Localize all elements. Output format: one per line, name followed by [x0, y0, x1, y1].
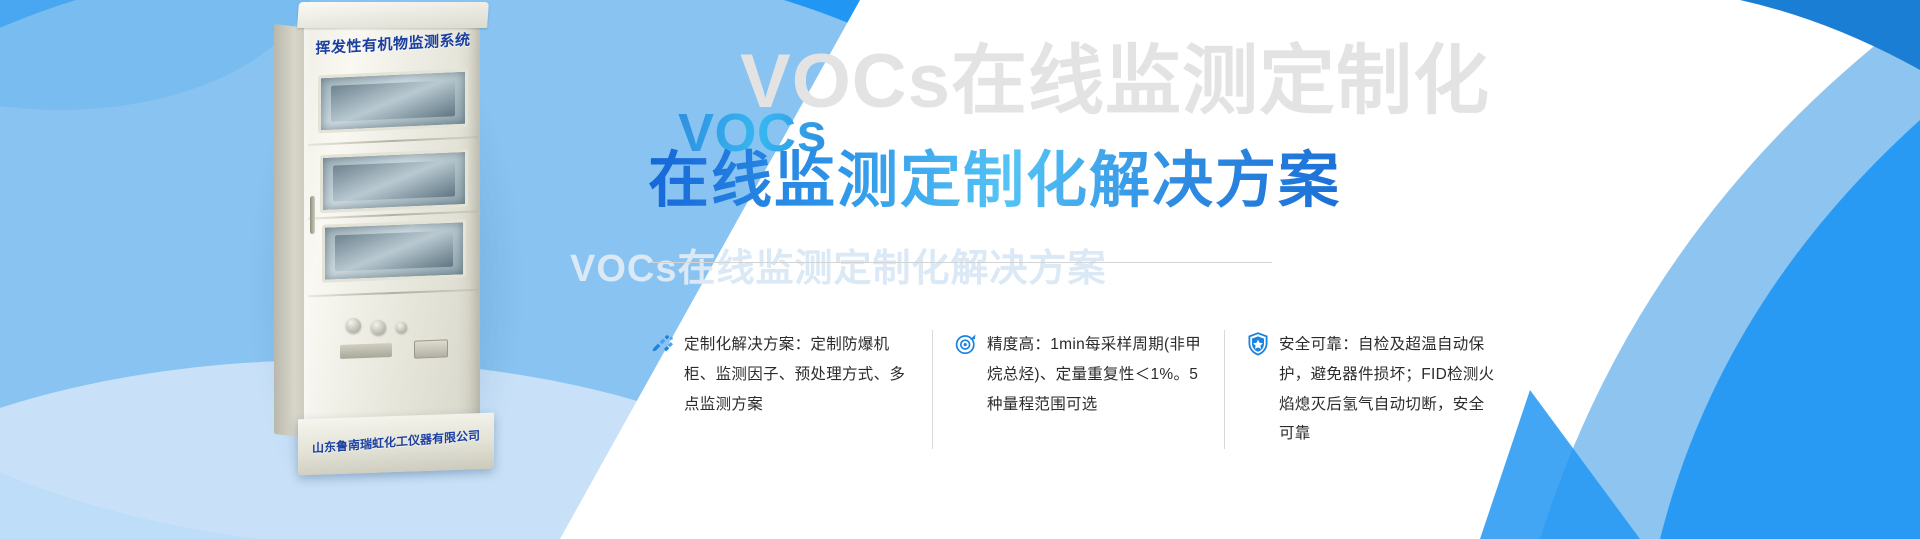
cabinet-knob-2	[371, 320, 386, 335]
customize-pen-icon-svg	[650, 331, 676, 357]
vocs-promo-banner: 挥发性有机物监测系统 山东鲁南瑞虹化工仪器有限公司 VOCs在线监测定制化 VO…	[0, 0, 1920, 539]
headline-divider	[652, 262, 1272, 263]
cabinet-screen-lower	[335, 231, 453, 272]
feature-item-customization: 定制化解决方案：定制防爆机柜、监测因子、预处理方式、多点监测方案	[640, 330, 932, 449]
ghost-headline-large: VOCs在线监测定制化	[740, 44, 1490, 120]
cabinet-screen-middle	[333, 160, 455, 201]
cabinet-knob-3	[396, 322, 407, 333]
banner-content: VOCs在线监测定制化 VOCs在线监测定制化解决方案 VOCs 在线监测定制化…	[640, 0, 1640, 539]
cabinet-meter-display	[414, 339, 448, 358]
ghost-headline-small: VOCs在线监测定制化解决方案	[570, 250, 1106, 288]
feature-text: 定制化解决方案：定制防爆机柜、监测因子、预处理方式、多点监测方案	[684, 330, 914, 419]
cabinet-window-middle	[320, 149, 468, 213]
safety-shield-star-icon-svg	[1245, 331, 1271, 357]
feature-item-safety: 安全可靠：自检及超温自动保护，避免器件损坏；FID检测火焰熄灭后氢气自动切断，安…	[1224, 330, 1516, 449]
cabinet-side-panel	[274, 24, 308, 438]
cabinet-door-handle	[310, 196, 315, 234]
headline-chinese: 在线监测定制化解决方案	[648, 148, 1341, 214]
cabinet-vent-grille	[340, 343, 392, 359]
precision-target-icon-svg	[953, 331, 979, 357]
cabinet-knob-1	[346, 318, 361, 333]
customize-pen-icon	[650, 331, 676, 357]
safety-shield-star-icon	[1245, 331, 1271, 357]
feature-text: 精度高：1min每采样周期(非甲烷总烃)、定量重复性＜1%。5种量程范围可选	[987, 330, 1206, 419]
product-photo-voc-cabinet: 挥发性有机物监测系统 山东鲁南瑞虹化工仪器有限公司	[268, 0, 508, 470]
cabinet-screen-upper	[331, 80, 455, 122]
cabinet-window-lower	[322, 219, 466, 283]
feature-item-precision: 精度高：1min每采样周期(非甲烷总烃)、定量重复性＜1%。5种量程范围可选	[932, 330, 1224, 449]
precision-target-icon	[953, 331, 979, 357]
cabinet-window-upper	[318, 69, 468, 134]
feature-text: 安全可靠：自检及超温自动保护，避免器件损坏；FID检测火焰熄灭后氢气自动切断，安…	[1279, 330, 1498, 449]
feature-list: 定制化解决方案：定制防爆机柜、监测因子、预处理方式、多点监测方案 精度高：1mi…	[640, 330, 1570, 449]
